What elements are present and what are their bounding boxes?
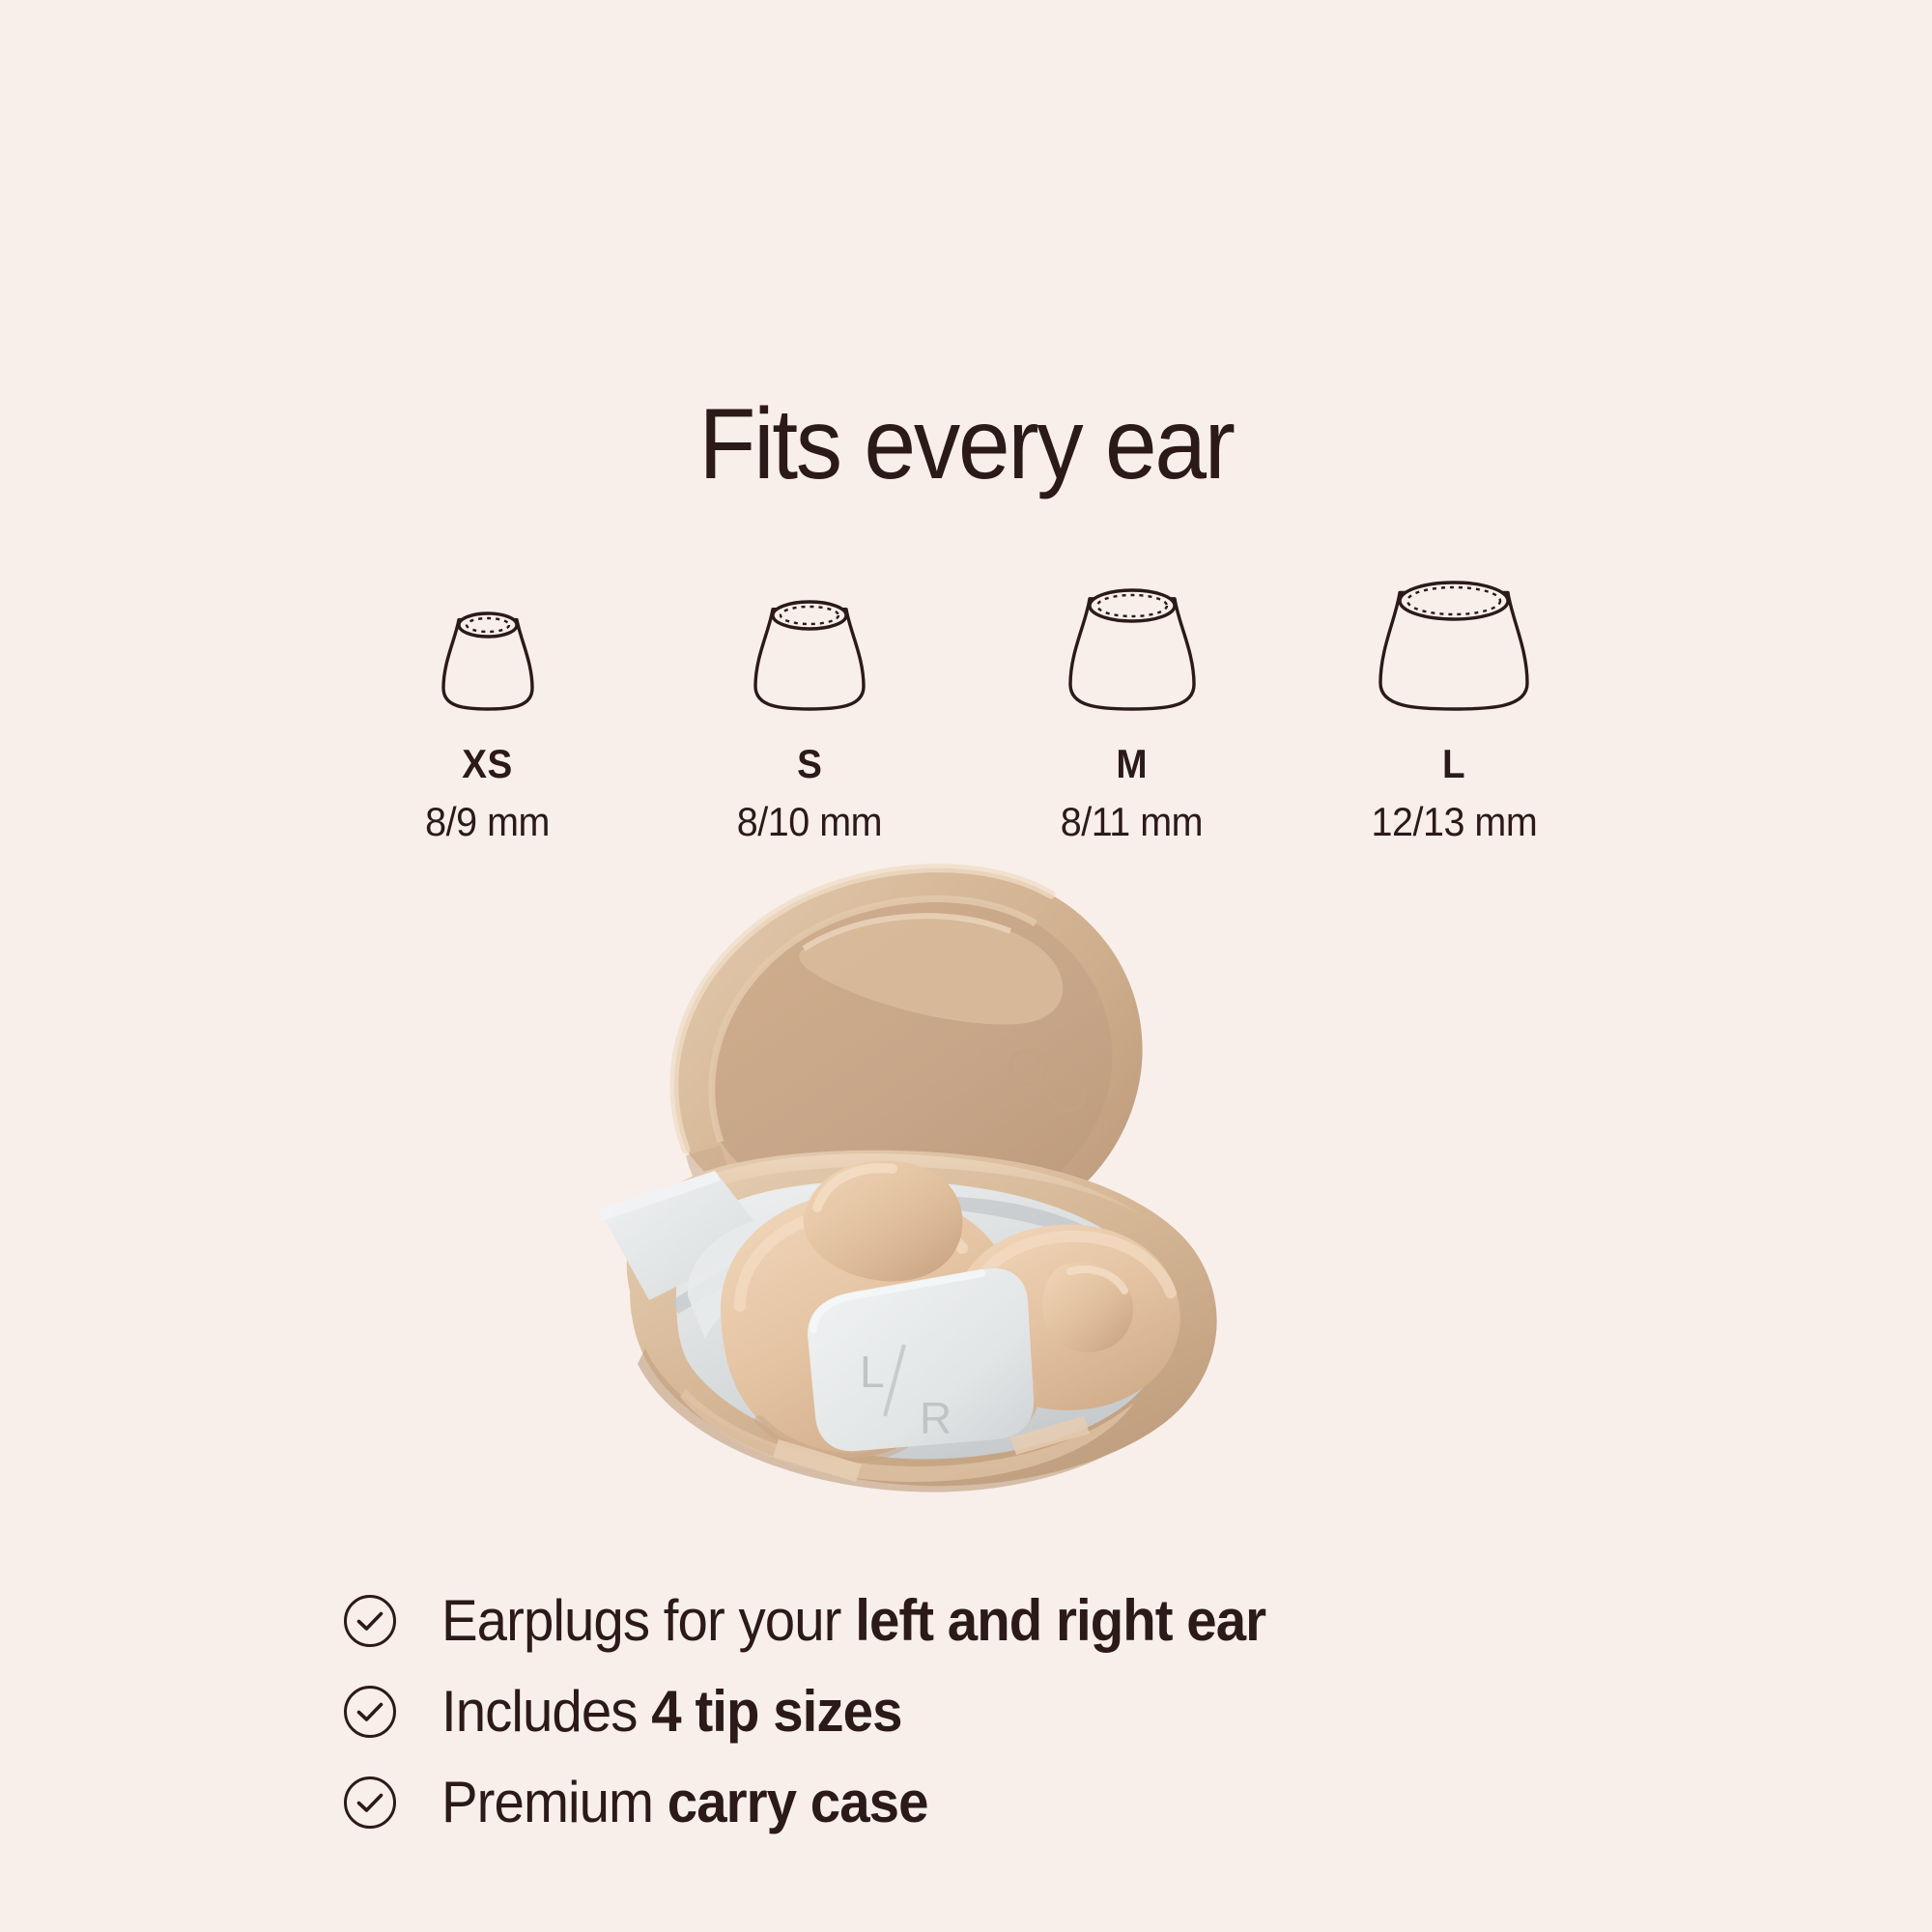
- feature-text-emphasis: carry case: [668, 1770, 928, 1834]
- tip-size-label: S: [797, 741, 822, 787]
- tip-size-dimensions: 8/9 mm: [426, 799, 551, 845]
- ear-tip-icon-xs: [391, 573, 584, 708]
- product-feature-panel: Fits every ear XS8/9 mmS8/10 mmM8/11 mmL…: [0, 0, 1932, 1932]
- list-item: Premium carry case: [343, 1764, 1599, 1841]
- ear-tip-size-chart: XS8/9 mmS8/10 mmM8/11 mmL12/13 mm: [348, 555, 1594, 845]
- case-base: L R: [599, 1151, 1217, 1492]
- tip-size-s: S8/10 mm: [669, 573, 950, 845]
- tip-size-label: M: [1116, 741, 1148, 787]
- feature-text: Earplugs for your left and right ear: [441, 1592, 1265, 1650]
- ear-tip-icon-s: [713, 573, 906, 708]
- tip-size-label: L: [1442, 741, 1465, 787]
- check-circle-icon: [343, 1594, 397, 1648]
- feature-text: Premium carry case: [441, 1774, 928, 1832]
- ear-tip-icon-m: [1036, 573, 1229, 708]
- feature-text: Includes 4 tip sizes: [441, 1683, 902, 1741]
- earplug-carry-case-illustration: L R: [541, 860, 1410, 1497]
- list-item: Includes 4 tip sizes: [343, 1673, 1599, 1750]
- tip-size-dimensions: 8/10 mm: [737, 799, 882, 845]
- product-feature-list: Earplugs for your left and right earIncl…: [343, 1582, 1599, 1855]
- ear-tip-icon-l: [1357, 573, 1550, 708]
- tip-size-label: XS: [463, 741, 513, 787]
- tip-size-dimensions: 8/11 mm: [1061, 799, 1203, 845]
- tip-size-dimensions: 12/13 mm: [1371, 799, 1537, 845]
- list-item: Earplugs for your left and right ear: [343, 1582, 1599, 1660]
- check-circle-icon: [343, 1685, 397, 1739]
- feature-text-emphasis: 4 tip sizes: [651, 1679, 901, 1744]
- lr-divider-plate: L R: [808, 1268, 1034, 1451]
- check-circle-icon: [343, 1776, 397, 1830]
- divider-label-left: L: [860, 1347, 885, 1397]
- page-title: Fits every ear: [68, 390, 1864, 498]
- feature-text-emphasis: left and right ear: [855, 1588, 1265, 1653]
- divider-label-right: R: [920, 1393, 952, 1443]
- tip-size-xs: XS8/9 mm: [348, 573, 628, 845]
- tip-size-m: M8/11 mm: [992, 573, 1272, 845]
- tip-size-l: L12/13 mm: [1314, 573, 1594, 845]
